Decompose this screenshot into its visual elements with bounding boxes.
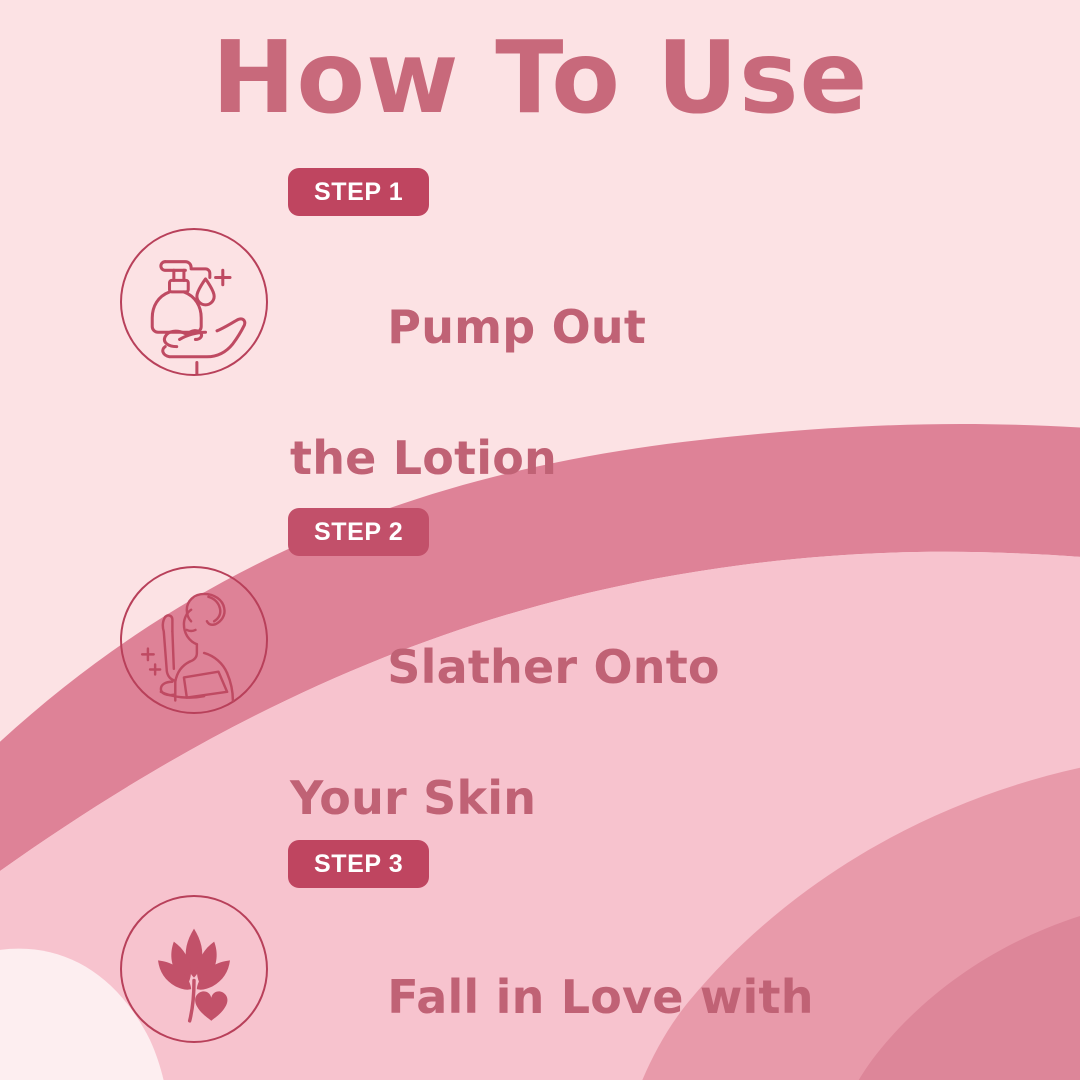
lotion-pump-bottle-hand-icon bbox=[122, 230, 266, 374]
step-1-icon-circle bbox=[120, 228, 268, 376]
page-title: How To Use bbox=[0, 28, 1080, 128]
step-1-heading-line2: the Lotion bbox=[290, 426, 646, 491]
step-3-badge: STEP 3 bbox=[288, 840, 429, 888]
step-2-icon-circle bbox=[120, 566, 268, 714]
step-3-heading-line1: Fall in Love with bbox=[387, 970, 813, 1024]
poster-canvas: How To Use bbox=[0, 0, 1080, 1080]
step-2-badge: STEP 2 bbox=[288, 508, 429, 556]
step-1-heading: Pump Out the Lotion bbox=[290, 230, 646, 622]
step-1-badge: STEP 1 bbox=[288, 168, 429, 216]
step-3-icon-circle bbox=[120, 895, 268, 1043]
step-2-heading-line1: Slather Onto bbox=[387, 640, 719, 694]
step-1-heading-line1: Pump Out bbox=[387, 300, 646, 354]
step-2-heading-line2: Your Skin bbox=[290, 766, 720, 831]
woman-applying-lotion-icon bbox=[122, 568, 266, 712]
flower-heart-icon bbox=[122, 897, 266, 1041]
step-3-heading: Fall in Love with the Fruit Glow! bbox=[290, 900, 814, 1080]
